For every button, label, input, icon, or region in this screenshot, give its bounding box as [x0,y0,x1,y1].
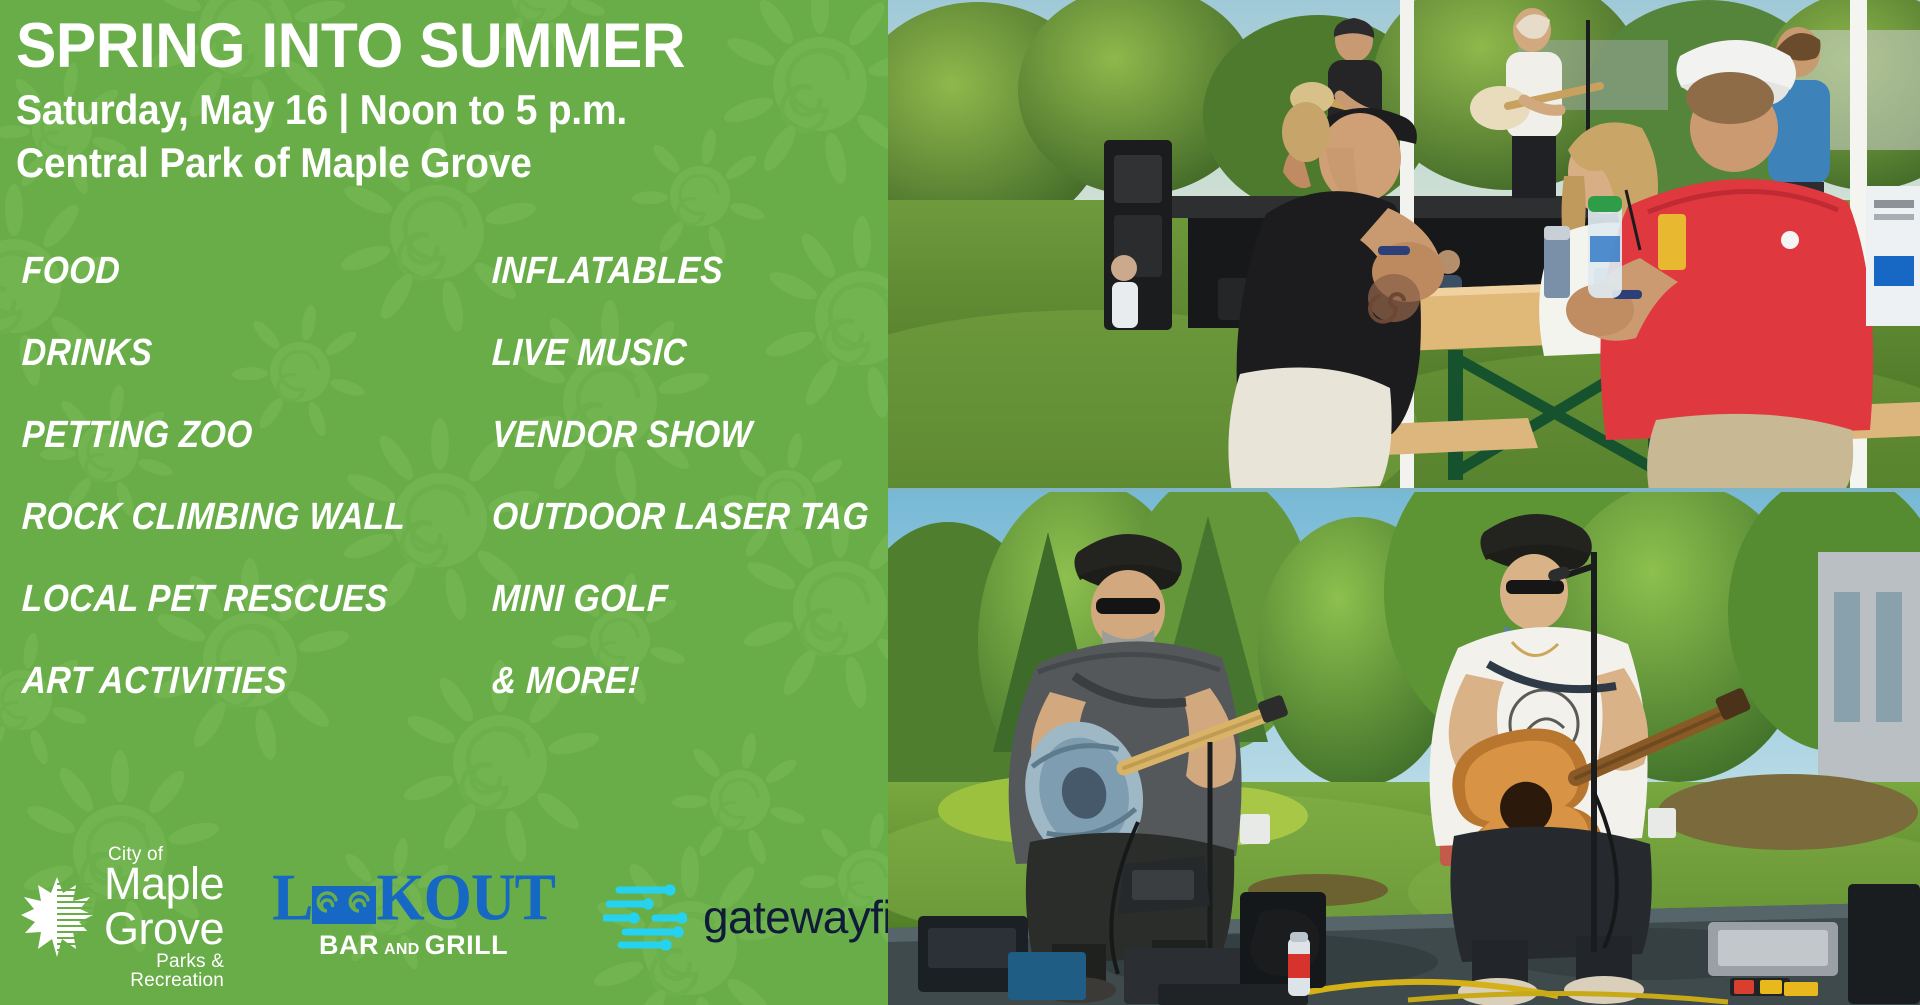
activity-item: PETTING ZOO [21,414,437,457]
activity-item: OUTDOOR LASER TAG [491,496,870,539]
lookout-bar-and-grill-logo: L KOUT BAR AND GRI [272,873,555,961]
activity-item: MINI GOLF [491,578,870,621]
lookout-bar-label: BAR [319,930,379,961]
maple-grove-logo: City of Maple Grove Parks & Recreation [20,845,224,990]
maple-grove-department-label: Parks & Recreation [104,952,224,990]
lookout-word-end: KOUT [376,869,555,929]
lookout-grill-label: GRILL [425,930,509,961]
photo-stage-musicians [888,492,1920,1005]
sponsor-logo-row: City of Maple Grove Parks & Recreation L [16,855,888,1005]
activity-item: ART ACTIVITIES [21,660,437,703]
activity-item: FOOD [21,250,437,293]
spiral-o-icon [343,880,377,926]
lookout-word-start: L [272,869,312,929]
maple-leaf-icon [20,875,94,959]
activity-item: INFLATABLES [491,250,870,293]
event-datetime: Saturday, May 16 | Noon to 5 p.m. [16,84,827,137]
activity-item: DRINKS [21,332,437,375]
activity-item: LIVE MUSIC [491,332,870,375]
spiral-o-icon [311,880,345,926]
activity-item: VENDOR SHOW [491,414,870,457]
activities-list: FOOD INFLATABLES DRINKS LIVE MUSIC PETTI… [16,230,888,722]
activity-item: LOCAL PET RESCUES [21,578,437,621]
lookout-and-label: AND [384,941,420,959]
maple-grove-name-label: Maple Grove [104,861,224,951]
page-title: SPRING INTO SUMMER [16,14,853,78]
activity-item: ROCK CLIMBING WALL [21,496,437,539]
gatewayfiber-logo: gatewayfiber [603,883,888,951]
fiber-lines-icon [603,883,687,951]
activity-item: & MORE! [491,660,870,703]
photo-picnic-table-crowd [888,0,1920,488]
photo-column [888,0,1920,1005]
event-location: Central Park of Maple Grove [16,137,827,190]
gatewayfiber-wordmark: gatewayfiber [703,894,888,940]
event-flyer: SPRING INTO SUMMER Saturday, May 16 | No… [0,0,1920,1005]
info-panel: SPRING INTO SUMMER Saturday, May 16 | No… [0,0,888,1005]
